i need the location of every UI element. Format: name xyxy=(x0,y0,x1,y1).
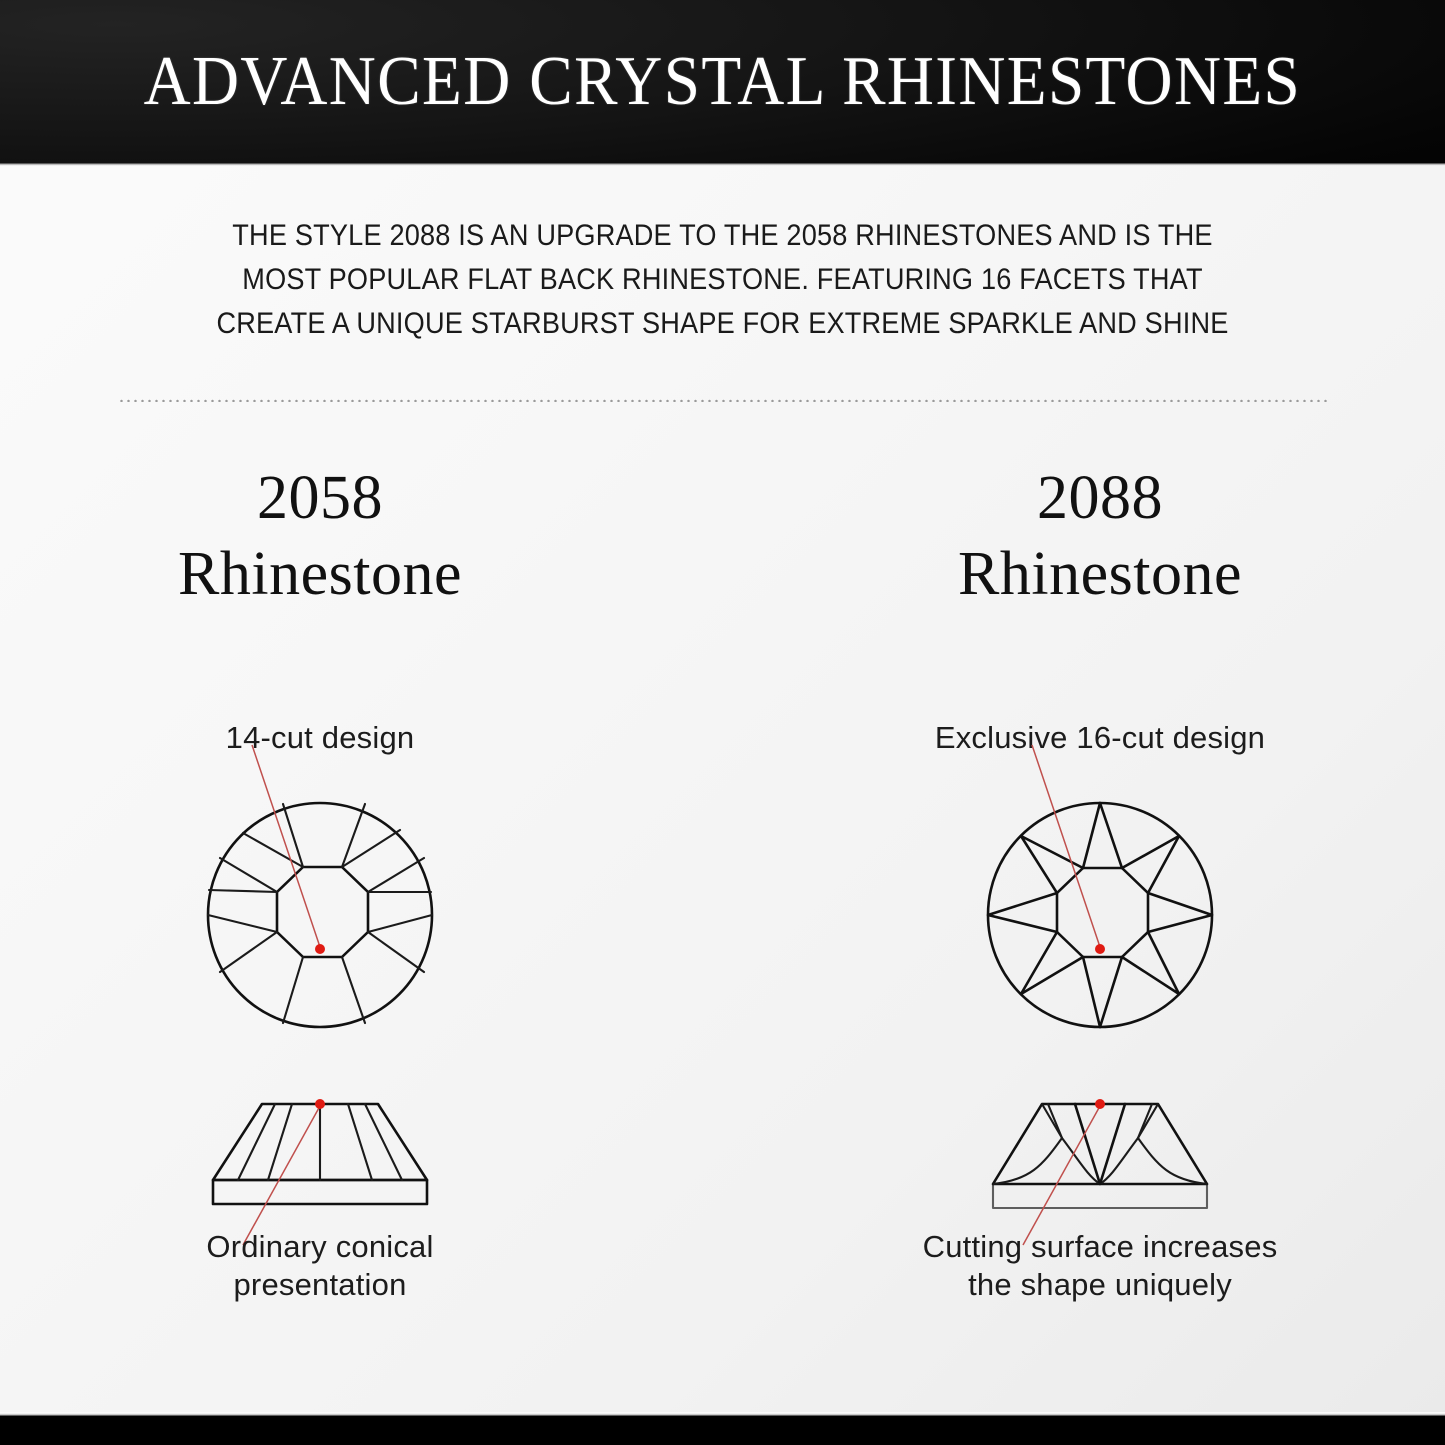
column-2058-title-line2: Rhinestone xyxy=(0,536,640,612)
starburst-facet-circle-icon xyxy=(780,780,1420,1050)
column-2088-caption: Cutting surface increases the shape uniq… xyxy=(780,1228,1420,1304)
intro-line-1: THE STYLE 2088 IS AN UPGRADE TO THE 2058… xyxy=(159,214,1286,258)
radial-facet-circle-icon xyxy=(0,780,640,1050)
column-2058-side-view xyxy=(0,1080,640,1220)
column-2058: 2058 Rhinestone 14-cut design xyxy=(0,460,640,1320)
column-2058-title-line1: 2058 xyxy=(257,464,383,532)
column-2088-facet-label: Exclusive 16-cut design xyxy=(780,720,1420,756)
pointer-dot xyxy=(1095,944,1105,954)
footer-bar xyxy=(0,1416,1445,1445)
column-2088-caption-line1: Cutting surface increases xyxy=(780,1228,1420,1266)
intro-line-2: MOST POPULAR FLAT BACK RHINESTONE. FEATU… xyxy=(159,258,1286,302)
column-2088-caption-line2: the shape uniquely xyxy=(780,1266,1420,1304)
column-2088-title-line2: Rhinestone xyxy=(780,536,1420,612)
scalloped-profile-icon xyxy=(780,1080,1420,1220)
column-2088-side-view xyxy=(780,1080,1420,1220)
column-2088: 2088 Rhinestone Exclusive 16-cut design xyxy=(780,460,1420,1320)
column-2058-caption-line2: presentation xyxy=(0,1266,640,1304)
header-underline-divider xyxy=(0,163,1445,166)
column-2058-title: 2058 Rhinestone xyxy=(0,460,640,612)
column-2088-top-view xyxy=(780,780,1420,1050)
conical-profile-icon xyxy=(0,1080,640,1220)
column-2058-caption: Ordinary conical presentation xyxy=(0,1228,640,1304)
header-banner: ADVANCED CRYSTAL RHINESTONES xyxy=(0,0,1445,163)
intro-line-3: CREATE A UNIQUE STARBURST SHAPE FOR EXTR… xyxy=(159,302,1286,346)
dotted-divider xyxy=(118,398,1328,402)
pointer-dot xyxy=(315,1099,325,1109)
column-2058-caption-line1: Ordinary conical xyxy=(0,1228,640,1266)
column-2088-title: 2088 Rhinestone xyxy=(780,460,1420,612)
column-2058-facet-label: 14-cut design xyxy=(0,720,640,756)
infographic-page: ADVANCED CRYSTAL RHINESTONES THE STYLE 2… xyxy=(0,0,1445,1445)
pointer-dot xyxy=(315,944,325,954)
column-2088-title-line1: 2088 xyxy=(1037,464,1163,532)
page-title: ADVANCED CRYSTAL RHINESTONES xyxy=(144,47,1302,117)
pointer-dot xyxy=(1095,1099,1105,1109)
intro-paragraph: THE STYLE 2088 IS AN UPGRADE TO THE 2058… xyxy=(110,214,1335,346)
column-2058-top-view xyxy=(0,780,640,1050)
